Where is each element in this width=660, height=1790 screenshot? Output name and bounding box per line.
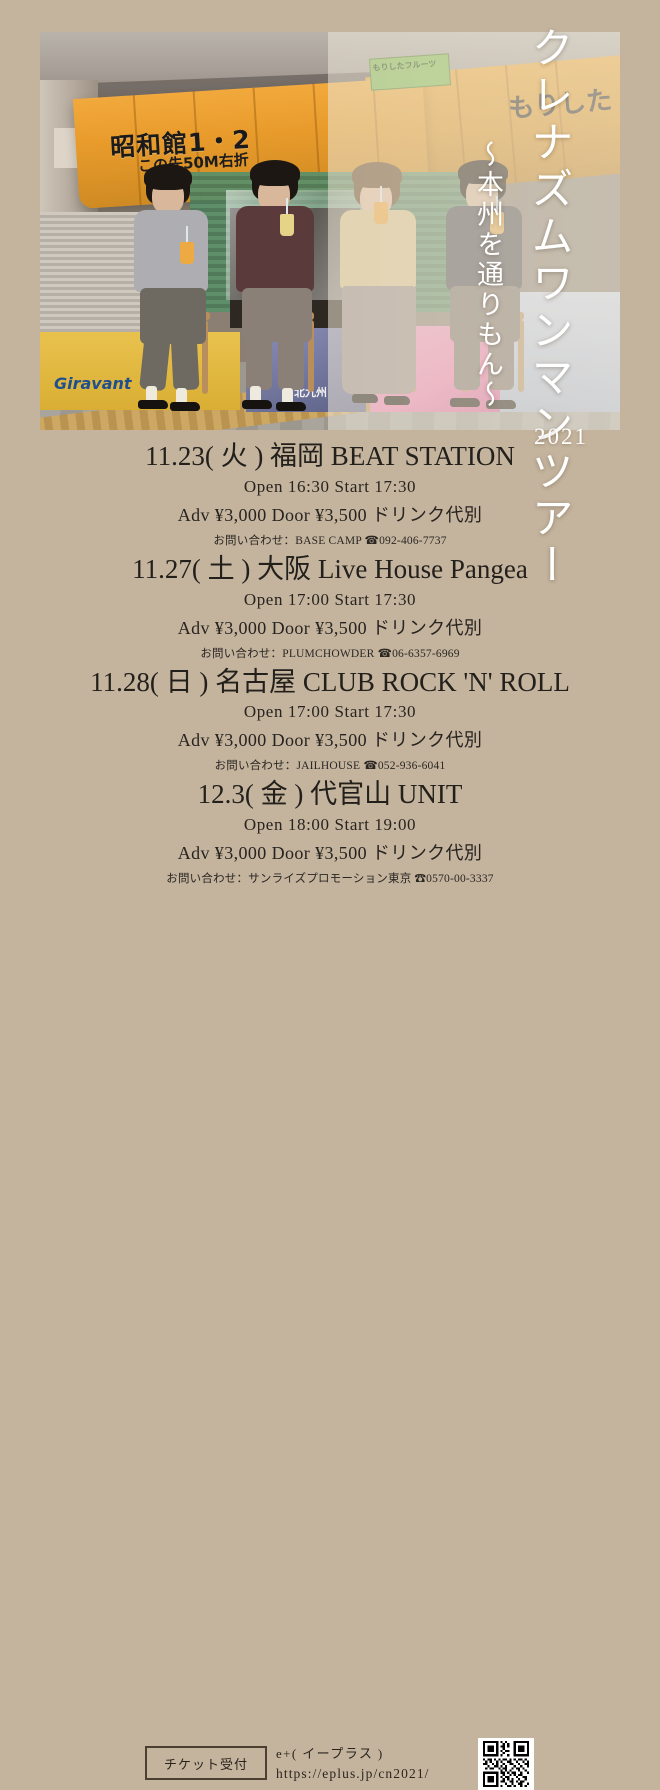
tour-date-entry: 11.28( 日 ) 名古屋 CLUB ROCK 'N' ROLL Open 1…: [0, 666, 660, 774]
concert-flyer: もりしたフルーツ 昭和館1・2 この先50M右折 もりした Giravant 北…: [0, 0, 660, 927]
tour-title-vertical: クレナズムワンマンツアー: [528, 26, 570, 590]
artist-name: クレナズム: [525, 26, 574, 261]
tour-year: 2021: [534, 424, 588, 450]
contact-info: お問い合わせ：PLUMCHOWDER ☎06-6357-6969: [0, 645, 660, 661]
ticket-price: Adv ¥3,000 Door ¥3,500 ドリンク代別: [0, 839, 660, 865]
ticket-price: Adv ¥3,000 Door ¥3,500 ドリンク代別: [0, 726, 660, 752]
band-member-1: [120, 162, 230, 412]
door-start-time: Open 17:00 Start 17:30: [0, 590, 660, 610]
contact-info: お問い合わせ：JAILHOUSE ☎052-936-6041: [0, 757, 660, 773]
ticket-vendor-info: e+( イープラス ) https://eplus.jp/cn2021/: [276, 1744, 430, 1785]
ticket-url[interactable]: https://eplus.jp/cn2021/: [276, 1764, 430, 1785]
ticket-footer: チケット受付 e+( イープラス ) https://eplus.jp/cn20…: [0, 868, 660, 927]
date-venue-heading: 12.3( 金 ) 代官山 UNIT: [0, 778, 660, 812]
vendor-name: e+( イープラス ): [276, 1744, 430, 1764]
tour-subtitle-vertical: 〜本州を通りもん〜: [474, 140, 501, 410]
date-venue-heading: 11.28( 日 ) 名古屋 CLUB ROCK 'N' ROLL: [0, 666, 660, 700]
qr-code[interactable]: [478, 1738, 534, 1790]
ticket-price: Adv ¥3,000 Door ¥3,500 ドリンク代別: [0, 614, 660, 640]
door-start-time: Open 18:00 Start 19:00: [0, 815, 660, 835]
door-start-time: Open 17:00 Start 17:30: [0, 702, 660, 722]
band-member-2: [224, 160, 334, 412]
ticket-reception-label: チケット受付: [145, 1746, 267, 1780]
